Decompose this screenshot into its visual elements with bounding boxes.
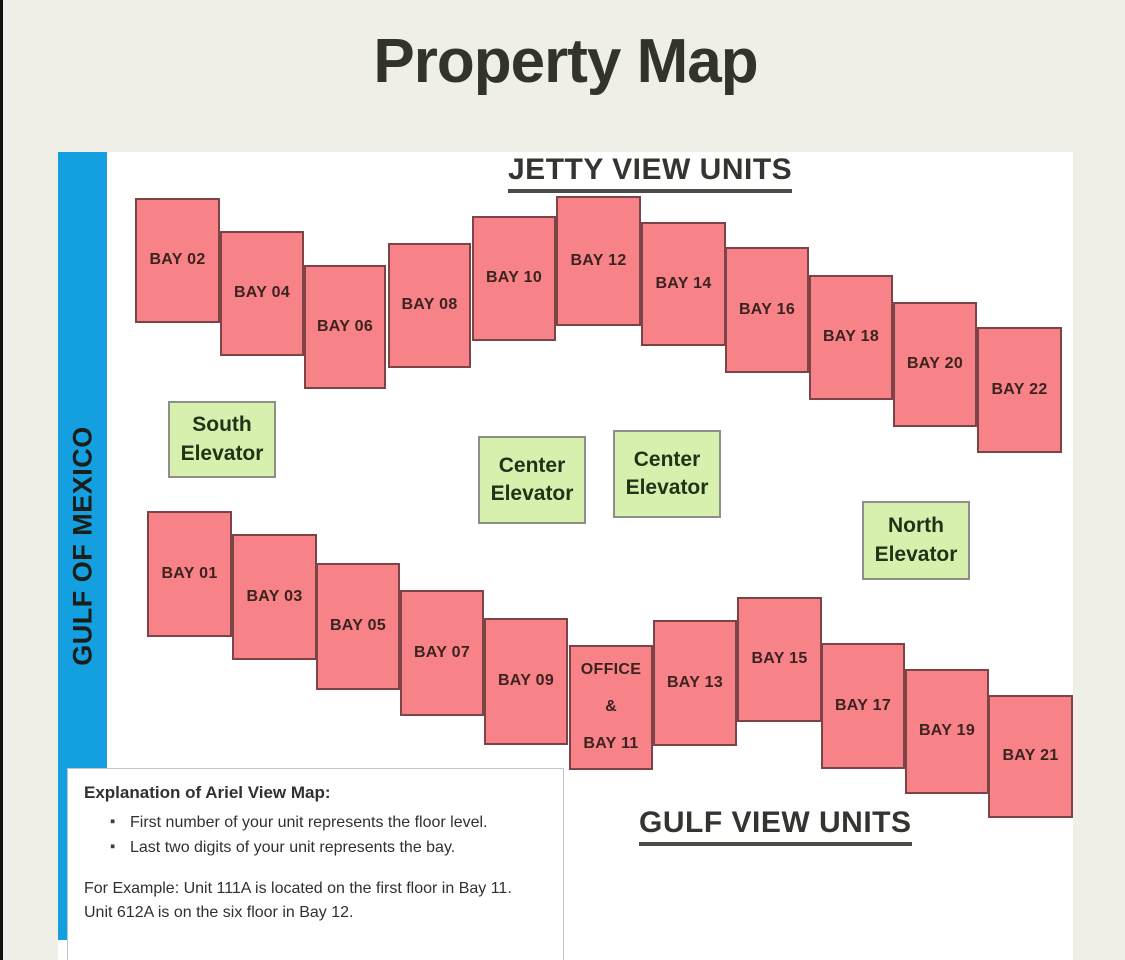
bay-box[interactable]: BAY 07 — [400, 590, 484, 716]
elevator-label-line: Center — [634, 446, 701, 474]
legend-note-line-1: For Example: Unit 111A is located on the… — [84, 877, 547, 901]
legend-panel: Explanation of Ariel View Map: First num… — [67, 768, 564, 960]
bay-box[interactable]: BAY 22 — [977, 327, 1062, 453]
legend-bullet-list: First number of your unit represents the… — [110, 811, 547, 861]
bay-box[interactable]: BAY 08 — [388, 243, 471, 368]
elevator-box[interactable]: NorthElevator — [862, 501, 970, 580]
gulf-view-units-heading: GULF VIEW UNITS — [639, 806, 912, 846]
bay-box[interactable]: BAY 09 — [484, 618, 568, 745]
bay-box[interactable]: BAY 19 — [905, 669, 989, 794]
elevator-label-line: Elevator — [491, 480, 574, 508]
legend-note: For Example: Unit 111A is located on the… — [84, 877, 547, 925]
bay-box[interactable]: BAY 15 — [737, 597, 822, 722]
elevator-box[interactable]: SouthElevator — [168, 401, 276, 478]
bay-box[interactable]: BAY 02 — [135, 198, 220, 323]
bay-label-line: & — [605, 689, 617, 726]
bay-box[interactable]: BAY 03 — [232, 534, 317, 660]
bay-box[interactable]: BAY 17 — [821, 643, 905, 769]
jetty-view-units-heading: JETTY VIEW UNITS — [508, 153, 792, 193]
bay-box[interactable]: BAY 04 — [220, 231, 304, 356]
bay-box[interactable]: BAY 20 — [893, 302, 977, 427]
bay-box[interactable]: BAY 01 — [147, 511, 232, 637]
bay-label-line: BAY 11 — [583, 726, 638, 763]
bay-box[interactable]: BAY 21 — [988, 695, 1073, 818]
elevator-label-line: Elevator — [626, 474, 709, 502]
bay-box[interactable]: OFFICE&BAY 11 — [569, 645, 653, 770]
legend-bullet: First number of your unit represents the… — [110, 811, 547, 836]
legend-bullet: Last two digits of your unit represents … — [110, 836, 547, 861]
property-map-page: Property Map GULF OF MEXICO JETTY VIEW U… — [0, 0, 1125, 960]
gulf-of-mexico-label: GULF OF MEXICO — [67, 426, 98, 666]
bay-label-line: OFFICE — [581, 652, 641, 689]
elevator-box[interactable]: CenterElevator — [478, 436, 586, 524]
page-title: Property Map — [3, 28, 1125, 96]
bay-box[interactable]: BAY 06 — [304, 265, 386, 389]
bay-box[interactable]: BAY 12 — [556, 196, 641, 326]
bay-box[interactable]: BAY 10 — [472, 216, 556, 341]
elevator-label-line: North — [888, 512, 944, 540]
bay-box[interactable]: BAY 05 — [316, 563, 400, 690]
elevator-label-line: South — [192, 411, 251, 439]
bay-box[interactable]: BAY 14 — [641, 222, 726, 346]
legend-title: Explanation of Ariel View Map: — [84, 783, 547, 803]
bay-box[interactable]: BAY 13 — [653, 620, 737, 746]
elevator-box[interactable]: CenterElevator — [613, 430, 721, 518]
elevator-label-line: Center — [499, 452, 566, 480]
elevator-label-line: Elevator — [181, 440, 264, 468]
bay-box[interactable]: BAY 18 — [809, 275, 893, 400]
bay-box[interactable]: BAY 16 — [725, 247, 809, 373]
elevator-label-line: Elevator — [875, 541, 958, 569]
legend-note-line-2: Unit 612A is on the six floor in Bay 12. — [84, 901, 547, 925]
